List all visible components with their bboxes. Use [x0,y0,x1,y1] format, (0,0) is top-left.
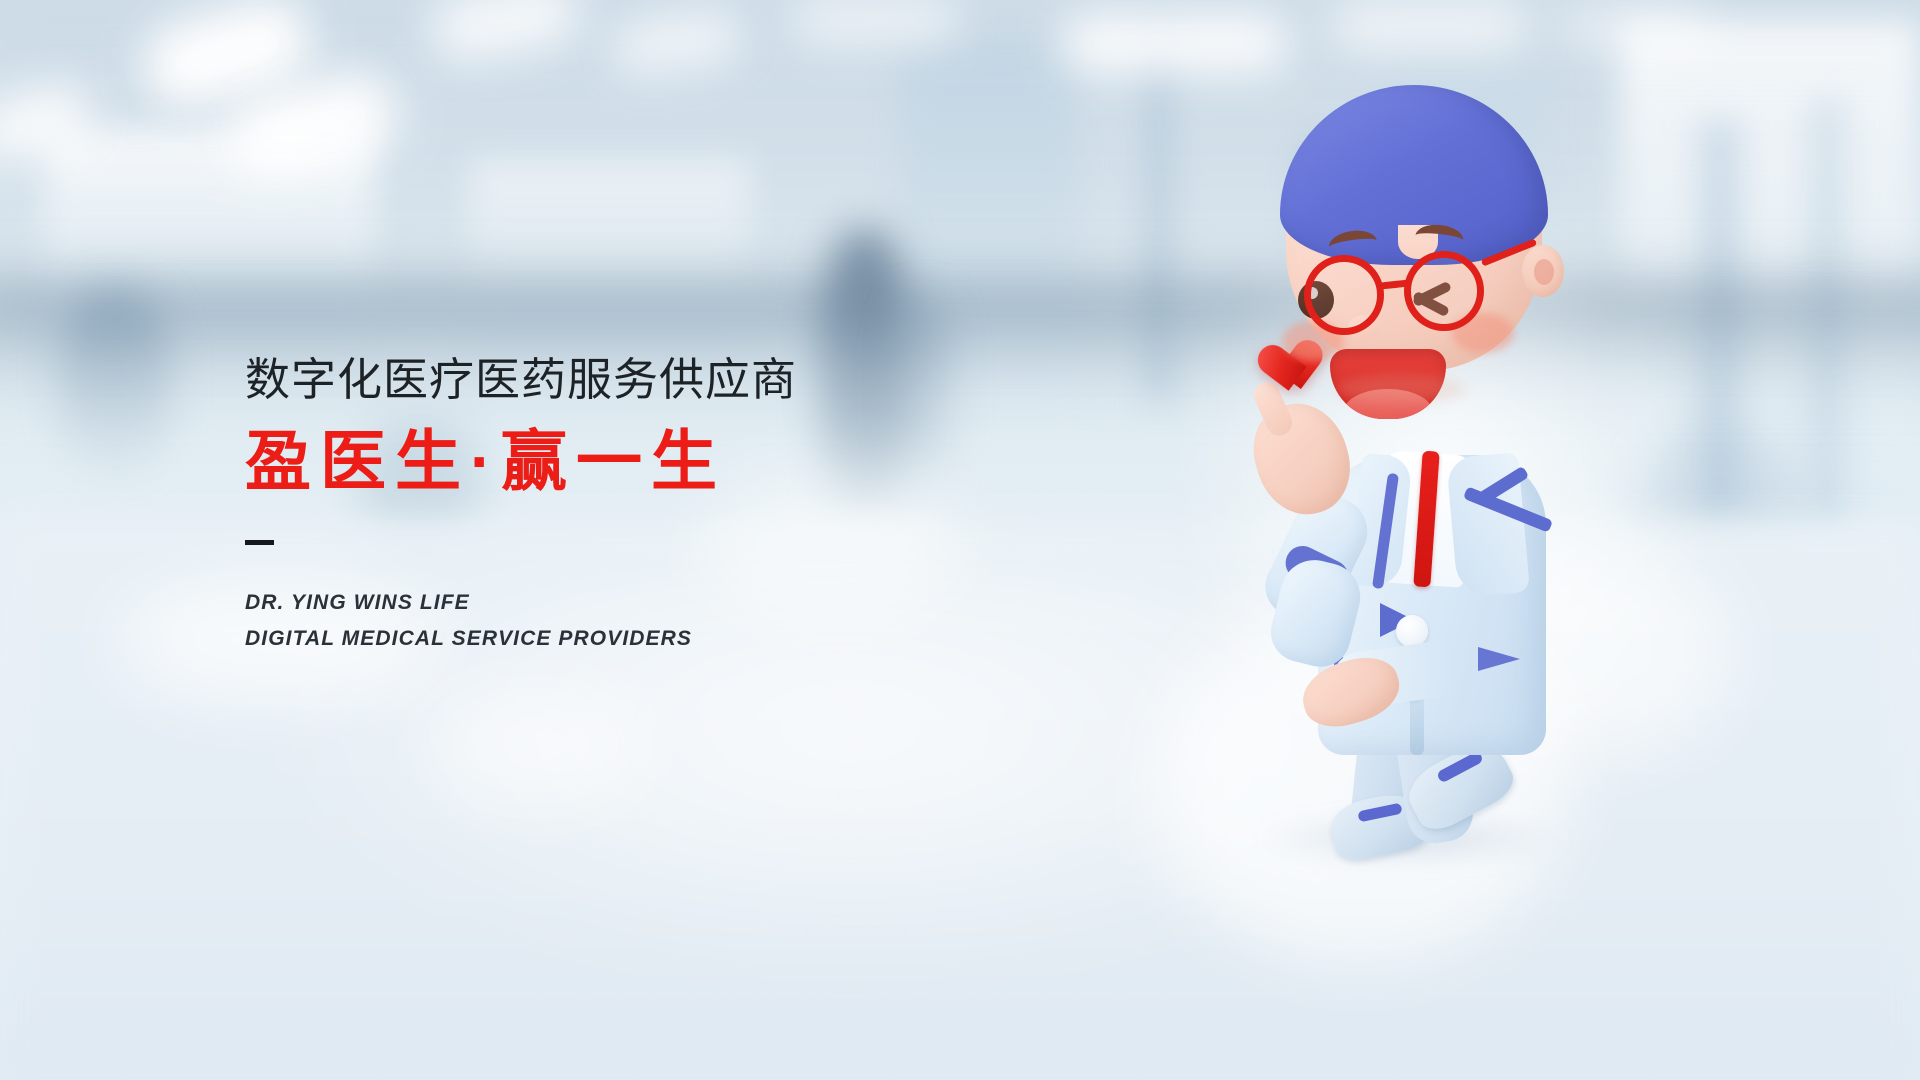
coat-pocket-accent [1478,647,1520,671]
ceiling-light-icon [1330,0,1530,52]
text-divider [245,540,274,545]
subtitle-line-1: DR. YING WINS LIFE [245,585,797,621]
mascot-head [1276,75,1564,377]
hero-text-block: 数字化医疗医药服务供应商 盈医生·赢一生 DR. YING WINS LIFE … [245,355,797,657]
background-highlight [430,690,650,800]
ceiling-light-icon [790,0,960,46]
doctor-mascot [1240,55,1660,845]
slogan-chinese: 盈医生·赢一生 [245,425,797,498]
background-figure [898,300,952,490]
headline-chinese: 数字化医疗医药服务供应商 [245,355,797,405]
mascot-chin-shadow [1336,375,1466,403]
ceiling-light-icon [1560,6,1710,50]
glasses-lens-right [1404,251,1484,331]
glasses-lens-left [1304,255,1384,335]
background-figure [60,290,170,470]
hero-banner: 数字化医疗医药服务供应商 盈医生·赢一生 DR. YING WINS LIFE … [0,0,1920,1080]
subtitle-english: DR. YING WINS LIFE DIGITAL MEDICAL SERVI… [245,585,797,657]
subtitle-line-2: DIGITAL MEDICAL SERVICE PROVIDERS [245,621,797,657]
glasses-icon [1304,251,1548,339]
